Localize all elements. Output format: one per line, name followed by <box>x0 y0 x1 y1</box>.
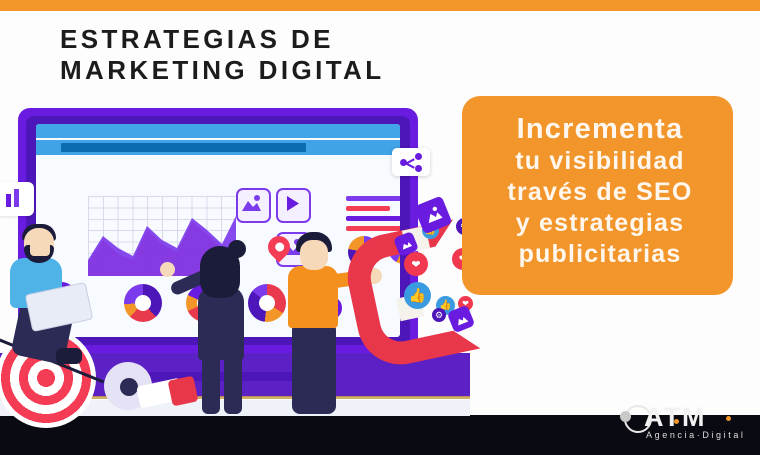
woman-leg <box>224 352 242 414</box>
share-icon[interactable] <box>392 148 430 176</box>
man-laptop-face <box>30 242 50 256</box>
megaphone-handle <box>168 376 199 407</box>
woman-hair-bun <box>228 240 246 258</box>
donut-chart-3 <box>248 284 286 322</box>
man-magnet-legs <box>292 322 336 414</box>
promo-line-5: publicitarias <box>478 239 722 270</box>
thumbs-up-icon: 👍 <box>404 282 431 309</box>
promo-text: Incrementa tu visibilidad través de SEO … <box>478 112 722 270</box>
horizontal-bar-list <box>346 196 400 236</box>
top-accent-bar <box>0 0 760 11</box>
promo-line-2: tu visibilidad <box>478 146 722 177</box>
logo-tagline: Agencia·Digital <box>646 430 746 440</box>
address-bar[interactable] <box>61 143 306 152</box>
woman-hand <box>160 262 175 277</box>
browser-titlebar <box>36 124 400 138</box>
megaphone-throat <box>120 378 138 396</box>
play-button-icon[interactable] <box>276 188 311 223</box>
brand-logo[interactable]: ATM Agencia·Digital <box>622 402 748 446</box>
heart-icon: ❤ <box>404 252 428 276</box>
chart-speech-bubble <box>0 182 34 216</box>
promo-callout-panel: Incrementa tu visibilidad través de SEO … <box>462 96 733 295</box>
logo-moon-icon <box>620 411 631 422</box>
gear-icon: ⚙ <box>432 308 446 322</box>
donut-chart-1 <box>124 284 162 322</box>
marketing-banner: ESTRATEGIAS DE MARKETING DIGITAL <box>0 0 760 455</box>
image-tile-icon[interactable] <box>236 188 271 223</box>
page-title: ESTRATEGIAS DE MARKETING DIGITAL <box>60 24 480 86</box>
logo-accent-dot <box>726 416 731 421</box>
promo-line-4: y estrategias <box>478 208 722 239</box>
man-laptop-shoe <box>56 348 82 364</box>
man-magnet-head <box>300 240 328 270</box>
woman-leg <box>202 352 220 414</box>
promo-line-3: través de SEO <box>478 177 722 208</box>
logo-wordmark: ATM <box>644 402 706 433</box>
promo-line-1: Incrementa <box>478 112 722 146</box>
logo-accent-dot <box>674 419 679 424</box>
